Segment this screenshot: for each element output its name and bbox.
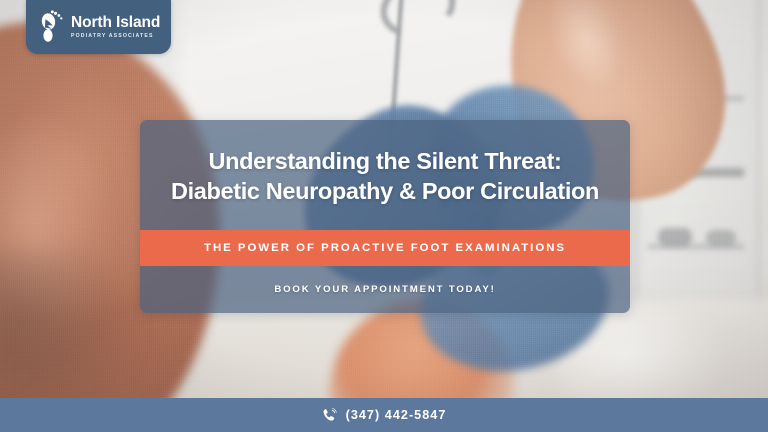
brand-logo-text: North Island PODIATRY ASSOCIATES <box>71 15 160 39</box>
cta-text: BOOK YOUR APPOINTMENT TODAY! <box>274 284 495 295</box>
headline-line-1: Understanding the Silent Threat: <box>208 148 561 174</box>
subtitle-text: THE POWER OF PROACTIVE FOOT EXAMINATIONS <box>204 242 566 254</box>
page-title: Understanding the Silent Threat: Diabeti… <box>160 146 610 206</box>
marketing-hero-banner: North Island PODIATRY ASSOCIATES Underst… <box>0 0 768 432</box>
hero-content-card: Understanding the Silent Threat: Diabeti… <box>140 120 630 313</box>
phone-number[interactable]: (347) 442-5847 <box>346 408 447 422</box>
footprint-icon <box>39 10 64 44</box>
brand-name: North Island <box>71 15 160 31</box>
headline-line-2: Diabetic Neuropathy & Poor Circulation <box>160 176 610 206</box>
brand-tagline: PODIATRY ASSOCIATES <box>71 34 160 39</box>
cta-block[interactable]: BOOK YOUR APPOINTMENT TODAY! <box>140 266 630 313</box>
hero-headline-block: Understanding the Silent Threat: Diabeti… <box>140 120 630 206</box>
brand-logo-badge[interactable]: North Island PODIATRY ASSOCIATES <box>26 0 171 54</box>
contact-footer-bar: (347) 442-5847 <box>0 398 768 432</box>
subtitle-banner: THE POWER OF PROACTIVE FOOT EXAMINATIONS <box>140 230 630 266</box>
phone-ringing-icon <box>322 408 337 423</box>
